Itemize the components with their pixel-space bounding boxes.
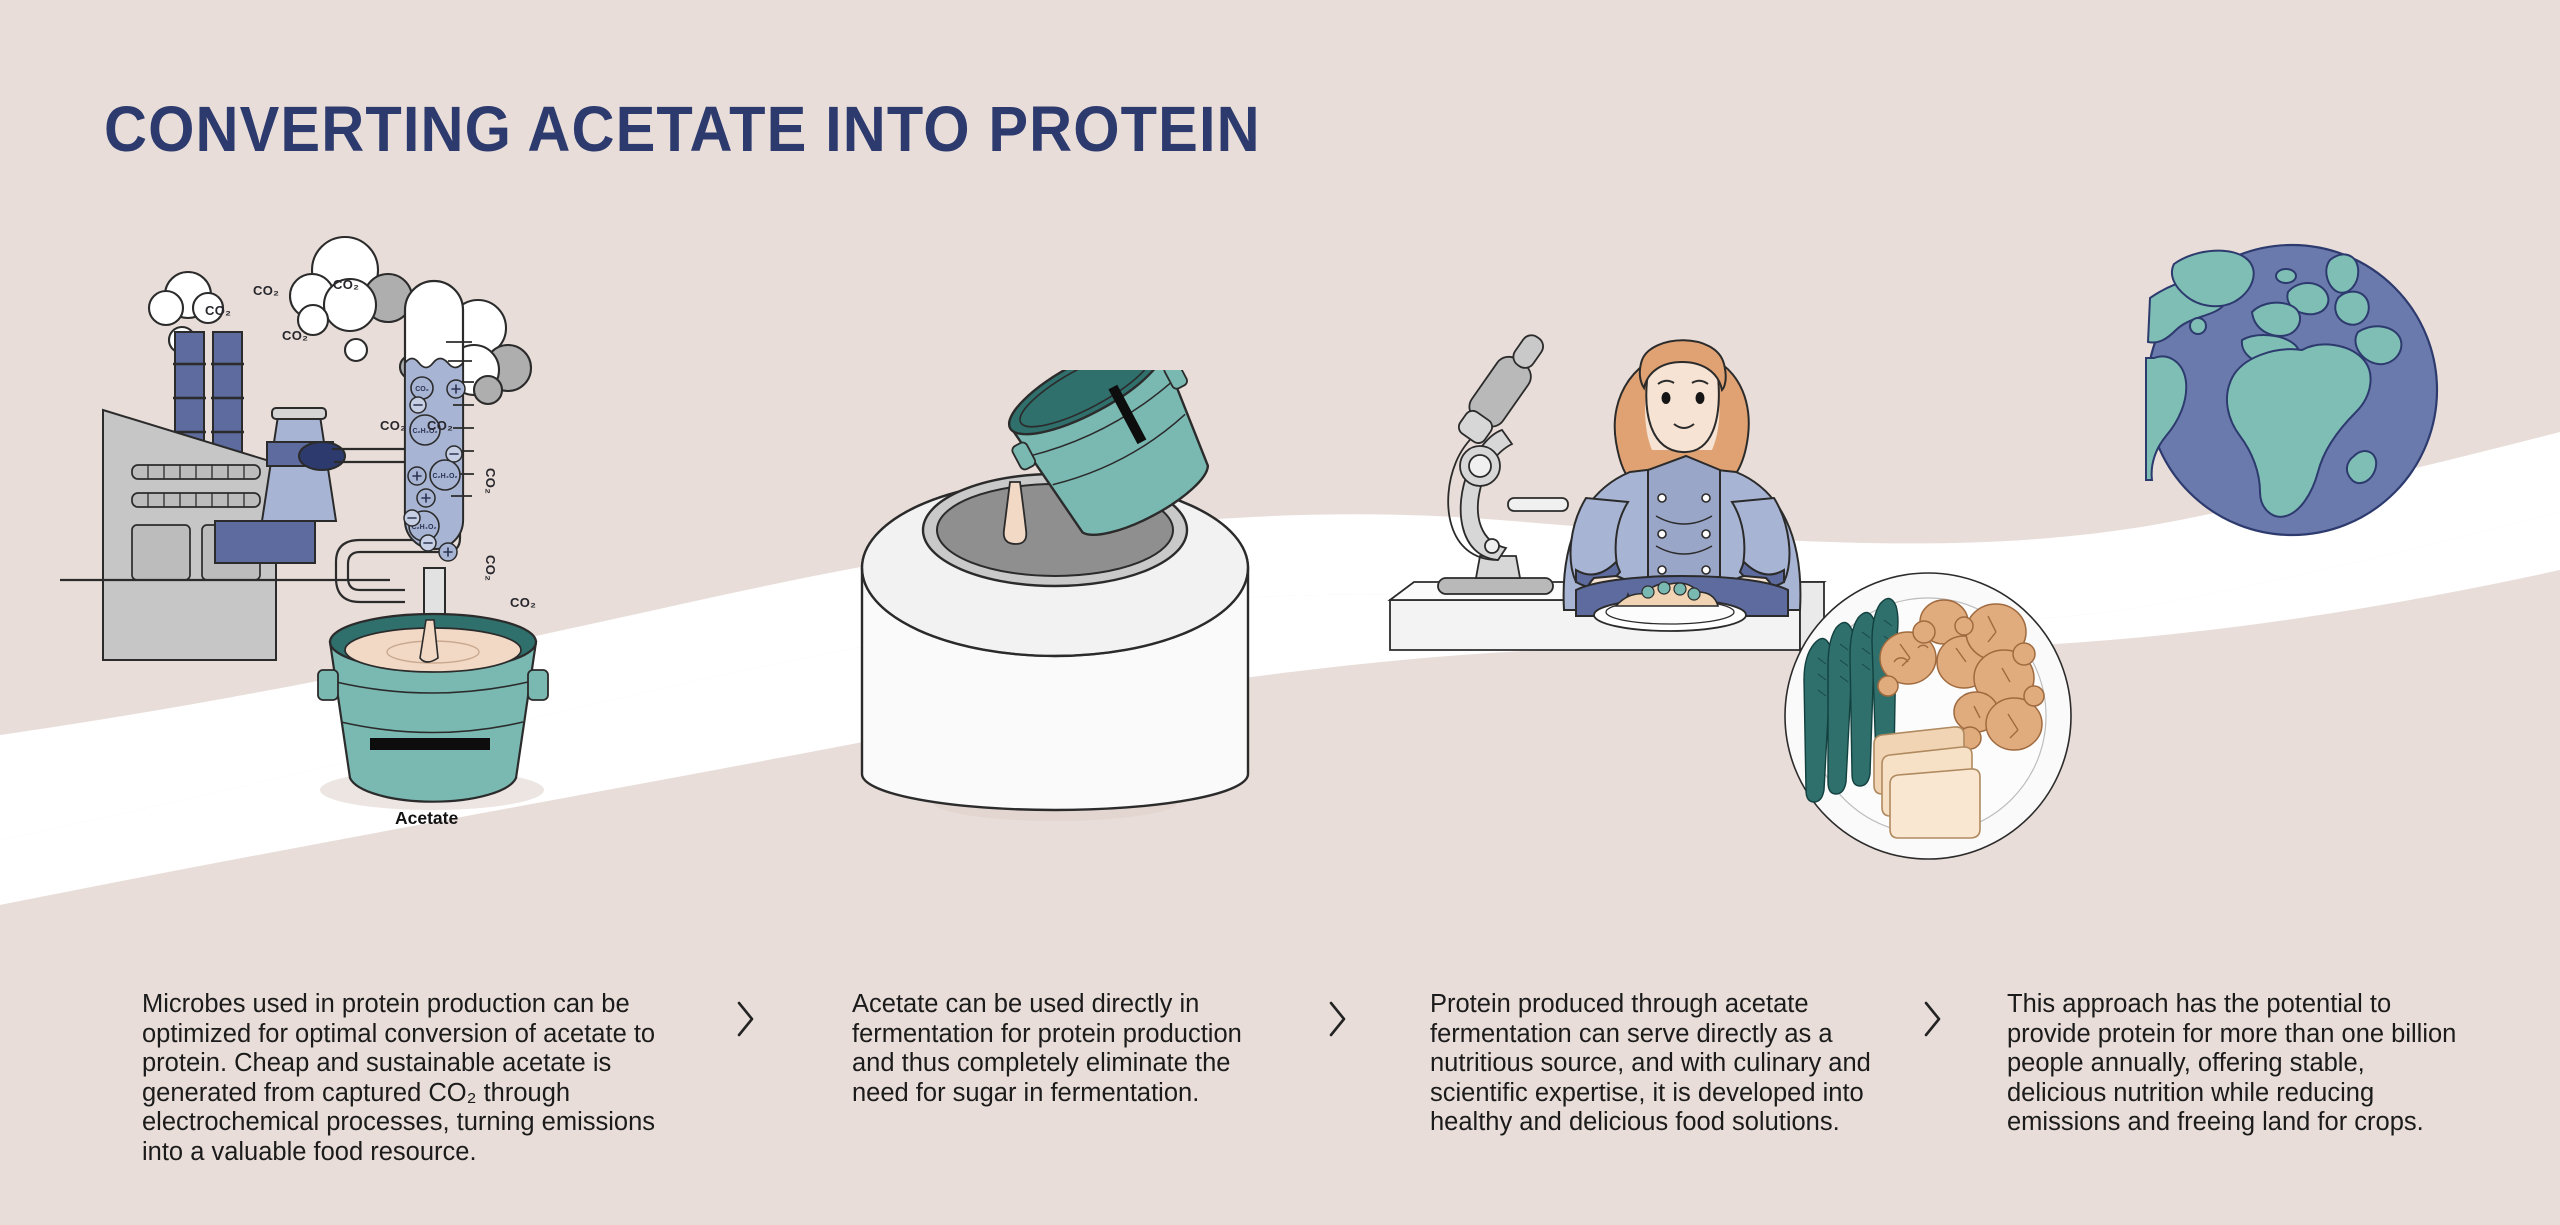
- scene-food-plate: [1778, 566, 2078, 866]
- bread-slices: [1874, 727, 1980, 838]
- step-1-text: Microbes used in protein production can …: [142, 990, 752, 1167]
- co2-label-5: CO₂: [380, 418, 406, 433]
- co2-label-3: CO₂: [333, 277, 359, 292]
- step-3-text: Protein produced through acetate ferment…: [1430, 990, 1940, 1138]
- electrochemical-reactor-tube: CO₂ C₂H₄O₂ C₂H₄O₂ C₂H₄O₂: [404, 281, 474, 634]
- fermentation-tank-body: [862, 474, 1248, 810]
- step-2-caption: Acetate can be used directly in fermenta…: [852, 990, 1282, 1108]
- co2-label-9: CO₂: [510, 595, 536, 610]
- smoke-cloud-group: [149, 237, 531, 404]
- scene-factory-reactor: CO₂ C₂H₄O₂ C₂H₄O₂ C₂H₄O₂: [60, 230, 720, 920]
- scene-fermentation: [840, 370, 1270, 830]
- co2-label-7: CO₂: [483, 468, 498, 494]
- step-1-caption: Microbes used in protein production can …: [142, 990, 752, 1167]
- co2-label-2: CO₂: [253, 283, 279, 298]
- chevron-3-icon: [1917, 996, 1947, 1042]
- page-title: CONVERTING ACETATE INTO PROTEIN: [104, 92, 1261, 166]
- co2-label-4: CO₂: [282, 328, 308, 343]
- co2-label-1: CO₂: [205, 303, 231, 318]
- acetate-bucket-label: Acetate: [395, 808, 458, 829]
- svg-text:CO₂: CO₂: [415, 386, 429, 393]
- co2-label-8: CO₂: [483, 555, 498, 581]
- chevron-2-icon: [1322, 996, 1352, 1042]
- microscope-illustration: [1438, 327, 1568, 594]
- co2-label-6: CO₂: [427, 418, 453, 433]
- scene-globe: [2142, 240, 2442, 540]
- step-4-text: This approach has the potential to provi…: [2007, 990, 2497, 1138]
- step-2-text: Acetate can be used directly in fermenta…: [852, 990, 1282, 1108]
- caption-row: Microbes used in protein production can …: [0, 990, 2560, 1225]
- step-4-caption: This approach has the potential to provi…: [2007, 990, 2497, 1138]
- svg-text:C₂H₄O₂: C₂H₄O₂: [432, 473, 457, 480]
- acetate-bucket-illustration: [318, 614, 548, 810]
- chevron-1-icon: [730, 996, 760, 1042]
- infographic-canvas: CONVERTING ACETATE INTO PROTEIN: [0, 0, 2560, 1225]
- step-3-caption: Protein produced through acetate ferment…: [1430, 990, 1940, 1138]
